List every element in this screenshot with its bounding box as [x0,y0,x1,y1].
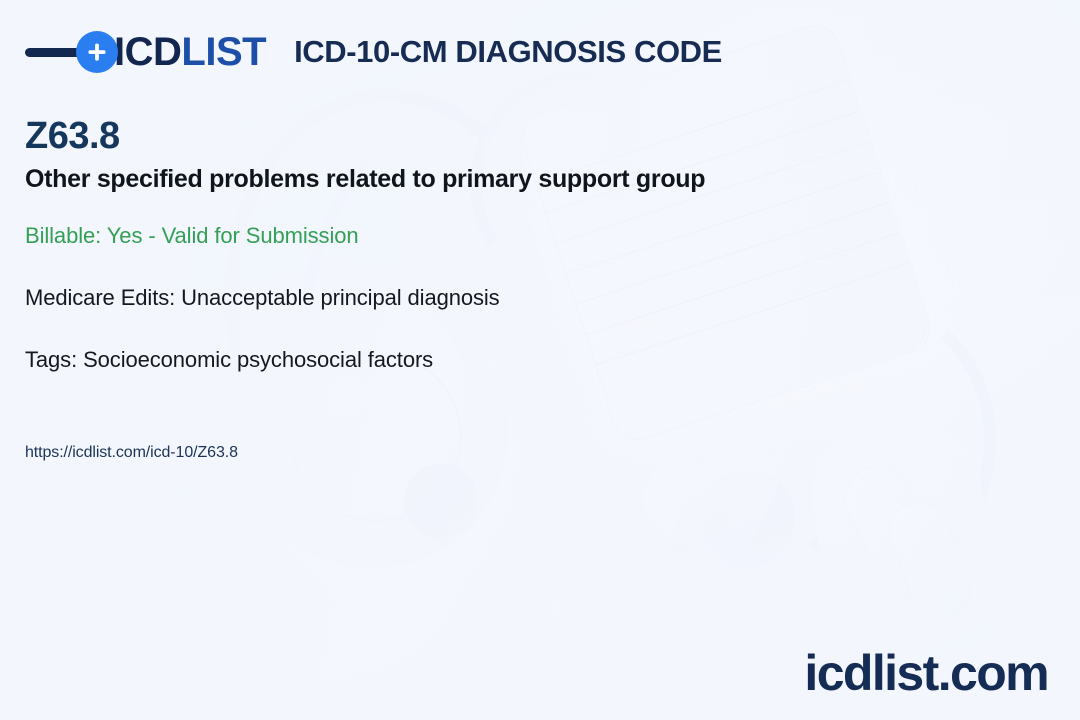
footer-brand: icdlist.com [804,648,1048,698]
logo-word-list: LIST [181,30,266,74]
card-content: ICDLIST ICD-10-CM DIAGNOSIS CODE Z63.8 O… [0,0,1080,720]
dash-icon [25,48,83,57]
page-title: ICD-10-CM DIAGNOSIS CODE [294,34,722,70]
medicare-edits: Medicare Edits: Unacceptable principal d… [25,285,500,311]
logo-wordmark: ICDLIST [114,32,266,72]
header: ICDLIST ICD-10-CM DIAGNOSIS CODE [25,24,722,80]
tags: Tags: Socioeconomic psychosocial factors [25,347,433,373]
billable-status-badge: Billable: Yes - Valid for Submission [25,223,359,249]
logo-word-icd: ICD [114,30,181,74]
diagnosis-code: Z63.8 [25,116,120,158]
source-url[interactable]: https://icdlist.com/icd-10/Z63.8 [25,444,238,462]
plus-circle-icon [76,31,118,73]
icdlist-logo[interactable]: ICDLIST [25,24,266,80]
icd-code-card: ICDLIST ICD-10-CM DIAGNOSIS CODE Z63.8 O… [0,0,1080,720]
diagnosis-description: Other specified problems related to prim… [25,164,705,195]
